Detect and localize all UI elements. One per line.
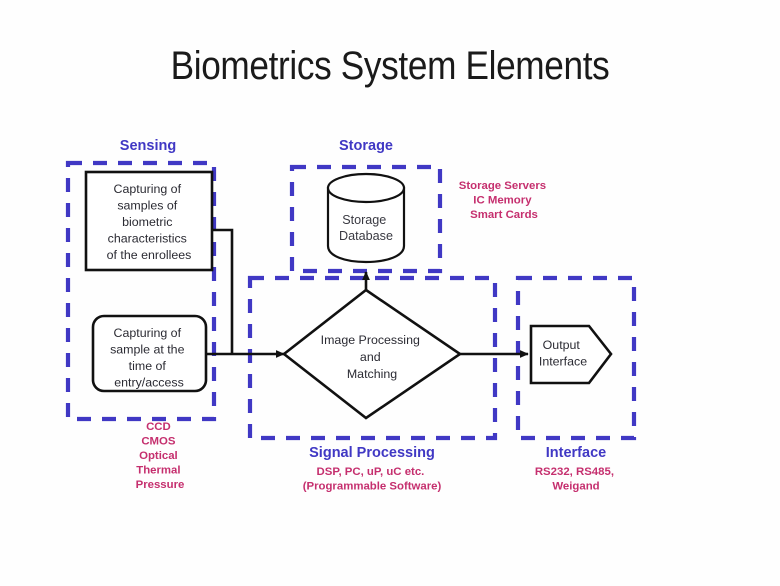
- diagram-canvas: Biometrics System Elements Sensing Captu…: [0, 0, 780, 586]
- storage-tech-2: IC Memory: [473, 195, 532, 207]
- storage-tech-notes: Storage Servers IC Memory Smart Cards: [459, 180, 550, 221]
- sensing-tech-4: Thermal: [136, 465, 180, 477]
- processing-line-2: and: [360, 350, 381, 364]
- enrollment-line-3: biometric: [122, 215, 172, 229]
- sensing-tech-2: CMOS: [141, 436, 176, 448]
- if-tech-2: Weigand: [552, 481, 599, 493]
- interface-line-2: Interface: [539, 355, 587, 369]
- enrollment-line-2: samples of: [117, 199, 177, 213]
- access-line-2: sample at the: [110, 343, 184, 357]
- interface-tech-notes: RS232, RS485, Weigand: [535, 466, 617, 493]
- interface-section-label: Interface: [546, 445, 606, 461]
- cylinder-top: [328, 174, 404, 202]
- access-line-3: time of: [129, 359, 167, 373]
- sensing-tech-5: Pressure: [136, 479, 185, 491]
- sensing-tech-3: Optical: [139, 450, 178, 462]
- enrollment-line-5: of the enrollees: [107, 248, 192, 262]
- biometrics-system-diagram: Sensing Capturing of samples of biometri…: [0, 0, 780, 586]
- storage-tech-1: Storage Servers: [459, 180, 546, 192]
- sensing-section-label: Sensing: [120, 138, 176, 154]
- processing-line-3: Matching: [347, 367, 397, 381]
- storage-tech-3: Smart Cards: [470, 209, 538, 221]
- sp-tech-2: (Programmable Software): [303, 481, 442, 493]
- signal-processing-tech-notes: DSP, PC, uP, uC etc. (Programmable Softw…: [303, 466, 442, 493]
- db-line-1: Storage: [342, 213, 386, 227]
- processing-line-1: Image Processing: [321, 333, 420, 347]
- sensing-tech-notes: CCD CMOS Optical Thermal Pressure: [136, 421, 185, 491]
- storage-section-label: Storage: [339, 138, 393, 154]
- sensing-tech-1: CCD: [146, 421, 171, 433]
- signal-processing-section-label: Signal Processing: [309, 445, 435, 461]
- db-line-2: Database: [339, 229, 393, 243]
- enrollment-line-1: Capturing of: [114, 182, 182, 196]
- if-tech-1: RS232, RS485,: [535, 466, 614, 478]
- sp-tech-1: DSP, PC, uP, uC etc.: [317, 466, 425, 478]
- enrollment-line-4: characteristics: [108, 232, 187, 246]
- access-line-1: Capturing of: [114, 326, 182, 340]
- access-line-4: entry/access: [114, 376, 184, 390]
- interface-line-1: Output: [543, 338, 581, 352]
